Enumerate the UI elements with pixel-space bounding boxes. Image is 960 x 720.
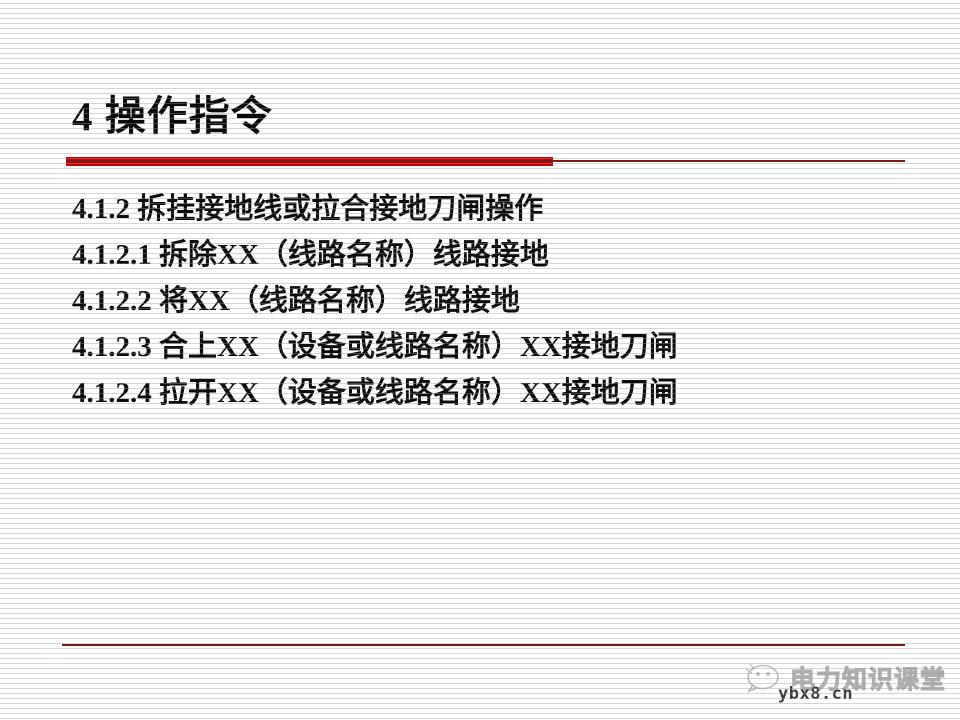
- page-title: 4 操作指令: [72, 94, 273, 140]
- slide-canvas: 4 操作指令 4.1.2 拆挂接地线或拉合接地刀闸操作 4.1.2.1 拆除XX…: [0, 0, 960, 720]
- list-item: 4.1.2 拆挂接地线或拉合接地刀闸操作: [72, 186, 912, 232]
- title-divider: [62, 156, 905, 166]
- divider-thin-line: [66, 160, 905, 162]
- content-list: 4.1.2 拆挂接地线或拉合接地刀闸操作 4.1.2.1 拆除XX（线路名称）线…: [72, 186, 912, 416]
- watermark: 电力知识课堂 ybx8.cn: [744, 658, 956, 710]
- list-item: 4.1.2.4 拉开XX（设备或线路名称）XX接地刀闸: [72, 370, 912, 416]
- list-item: 4.1.2.1 拆除XX（线路名称）线路接地: [72, 232, 912, 278]
- list-item: 4.1.2.2 将XX（线路名称）线路接地: [72, 278, 912, 324]
- footer-rule: [62, 644, 905, 646]
- list-item: 4.1.2.3 合上XX（设备或线路名称）XX接地刀闸: [72, 324, 912, 370]
- watermark-url: ybx8.cn: [778, 684, 853, 704]
